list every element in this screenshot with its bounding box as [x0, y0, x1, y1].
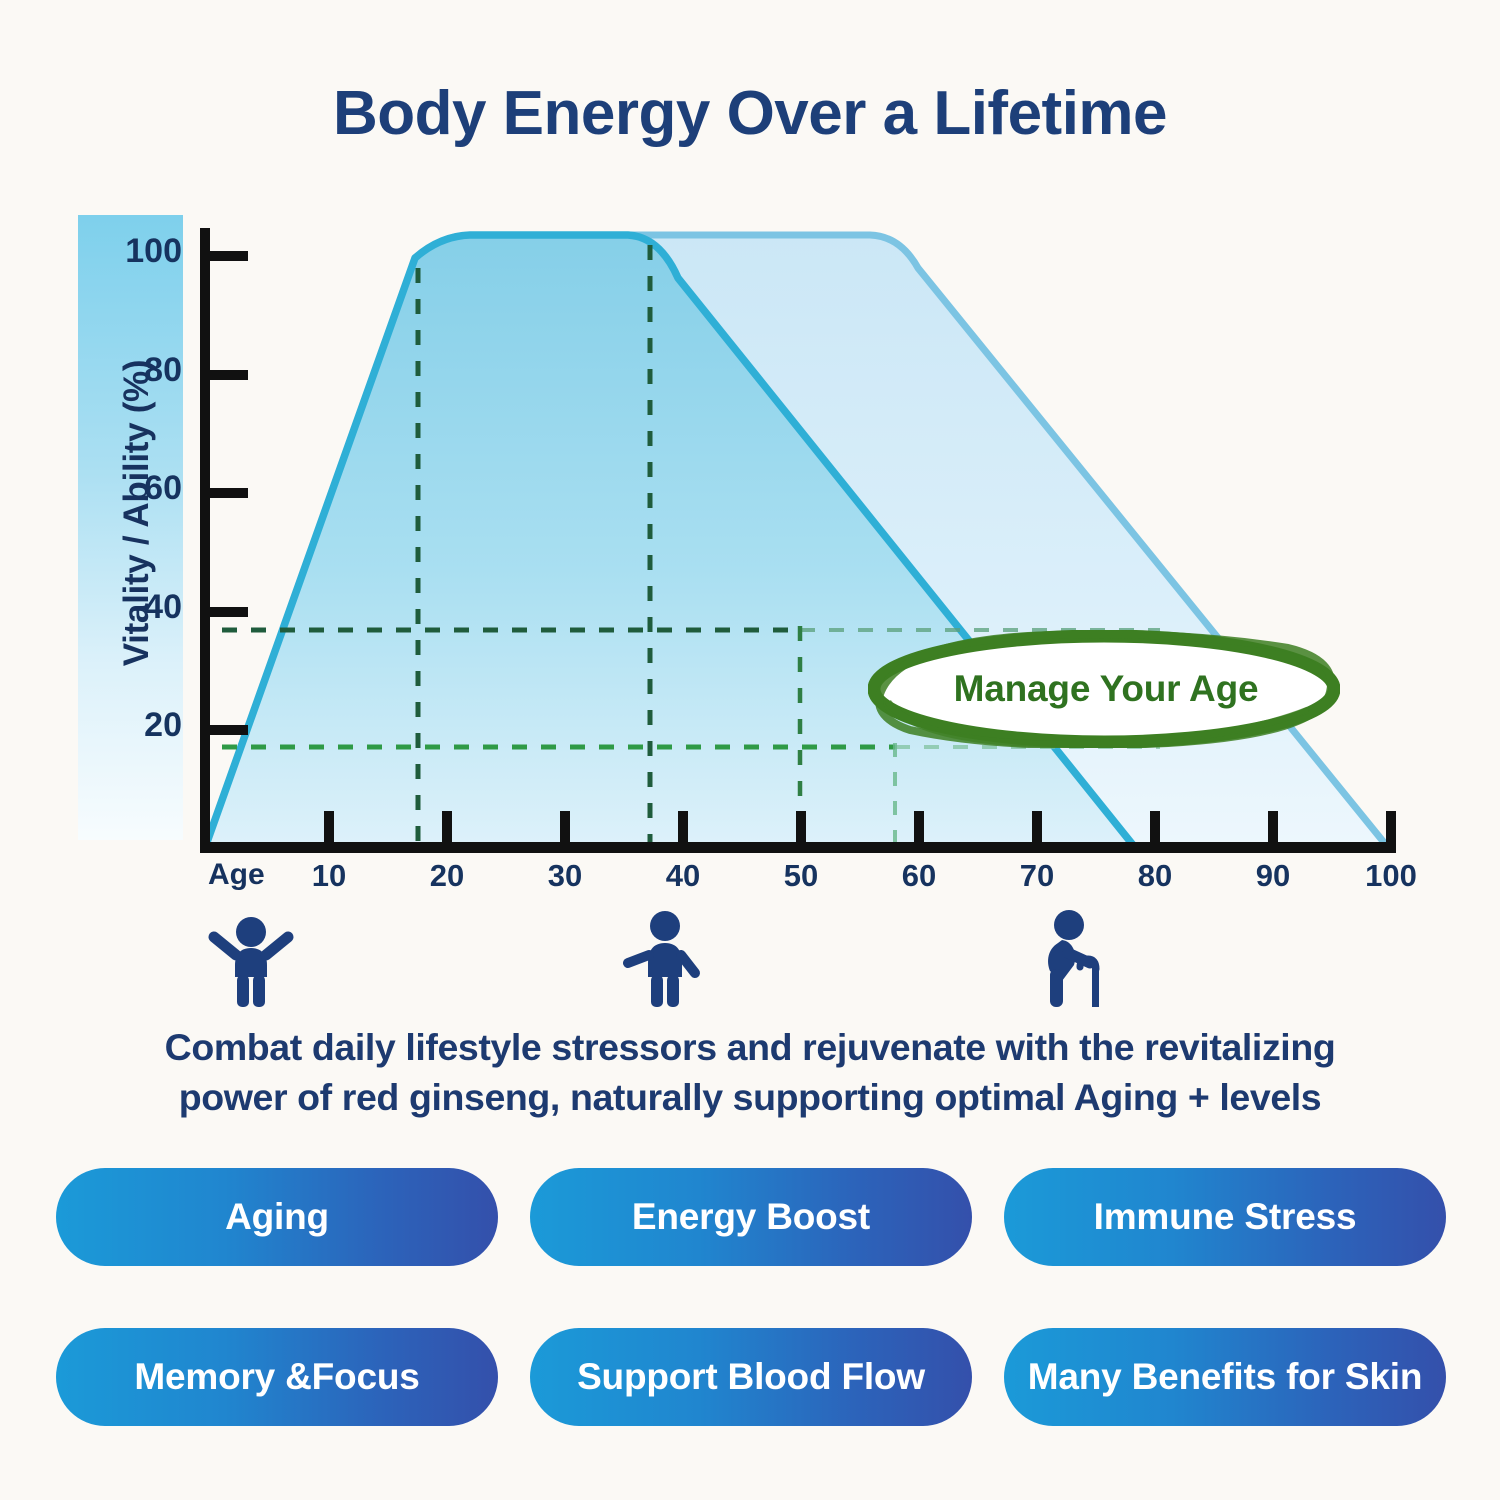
- benefit-pill-aging[interactable]: Aging: [56, 1168, 498, 1266]
- description-line-2: power of red ginseng, naturally supporti…: [75, 1072, 1425, 1122]
- y-tick-label-100: 100: [112, 232, 182, 271]
- manage-your-age-badge[interactable]: Manage Your Age: [868, 630, 1340, 748]
- x-tick-label-60: 60: [879, 858, 959, 894]
- elderly-figure-icon: [1028, 909, 1120, 1007]
- x-tick-label-10: 10: [289, 858, 369, 894]
- page-title: Body Energy Over a Lifetime: [0, 78, 1500, 149]
- benefit-pill-benefits-for-skin[interactable]: Many Benefits for Skin: [1004, 1328, 1446, 1426]
- adult-figure-icon: [622, 911, 704, 1007]
- benefit-pill-support-blood-flow[interactable]: Support Blood Flow: [530, 1328, 972, 1426]
- description-line-1: Combat daily lifestyle stressors and rej…: [75, 1022, 1425, 1072]
- benefit-pill-immune-stress[interactable]: Immune Stress: [1004, 1168, 1446, 1266]
- description-paragraph: Combat daily lifestyle stressors and rej…: [75, 1022, 1425, 1122]
- x-axis-title: Age: [208, 858, 265, 892]
- child-figure-icon: [208, 915, 294, 1007]
- chart-plot-svg: [0, 190, 1500, 950]
- benefits-grid: Aging Energy Boost Immune Stress Memory …: [56, 1168, 1446, 1426]
- vitality-chart: Vitality / Ability (%): [0, 190, 1500, 950]
- x-tick-label-70: 70: [997, 858, 1077, 894]
- badge-label: Manage Your Age: [868, 630, 1340, 748]
- life-stage-icons: [0, 905, 1500, 1015]
- x-tick-label-100: 100: [1351, 858, 1431, 894]
- x-tick-label-30: 30: [525, 858, 605, 894]
- x-tick-label-40: 40: [643, 858, 723, 894]
- y-tick-label-60: 60: [112, 469, 182, 508]
- x-tick-label-90: 90: [1233, 858, 1313, 894]
- x-tick-label-50: 50: [761, 858, 841, 894]
- x-tick-label-80: 80: [1115, 858, 1195, 894]
- y-tick-label-40: 40: [112, 588, 182, 627]
- benefit-pill-memory-focus[interactable]: Memory &Focus: [56, 1328, 498, 1426]
- benefit-pill-energy-boost[interactable]: Energy Boost: [530, 1168, 972, 1266]
- x-tick-label-20: 20: [407, 858, 487, 894]
- y-tick-label-20: 20: [112, 706, 182, 745]
- y-tick-label-80: 80: [112, 351, 182, 390]
